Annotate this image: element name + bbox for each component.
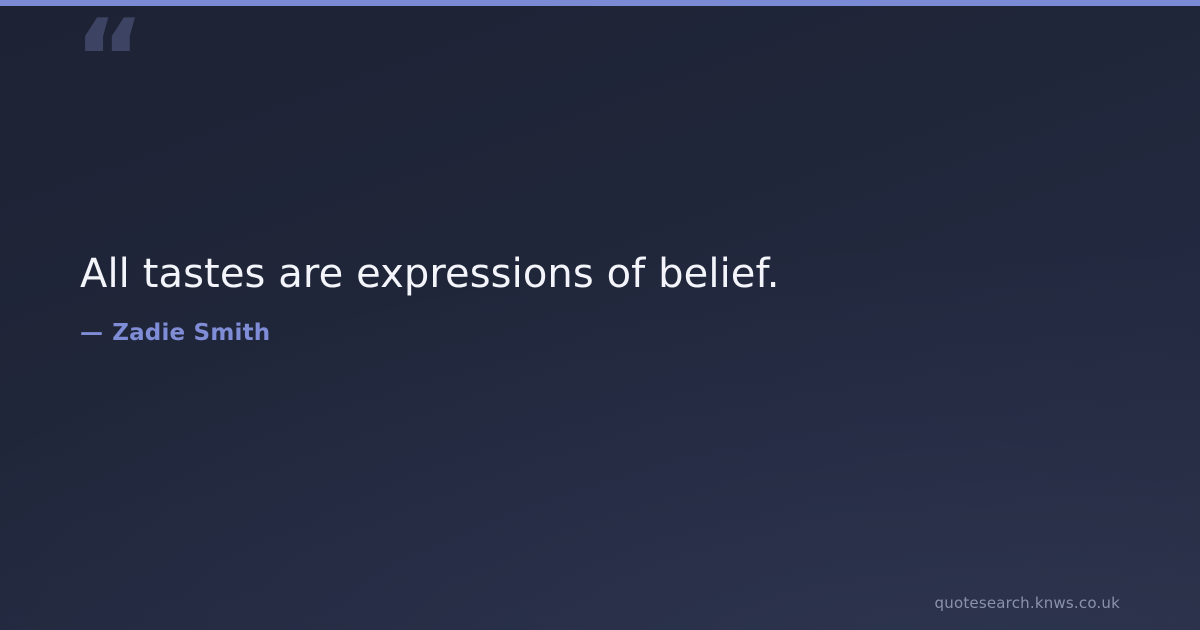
top-accent-bar [0,0,1200,6]
quote-text: All tastes are expressions of belief. [80,248,1060,301]
quote-attribution: — Zadie Smith [80,320,1120,348]
attribution-dash: — [80,320,103,348]
site-url-footer: quotesearch.knws.co.uk [935,594,1120,612]
quote-content: All tastes are expressions of belief. — … [80,248,1120,347]
quote-card: “ All tastes are expressions of belief. … [0,0,1200,630]
author-name: Zadie Smith [112,320,270,348]
open-quote-icon: “ [74,6,143,114]
